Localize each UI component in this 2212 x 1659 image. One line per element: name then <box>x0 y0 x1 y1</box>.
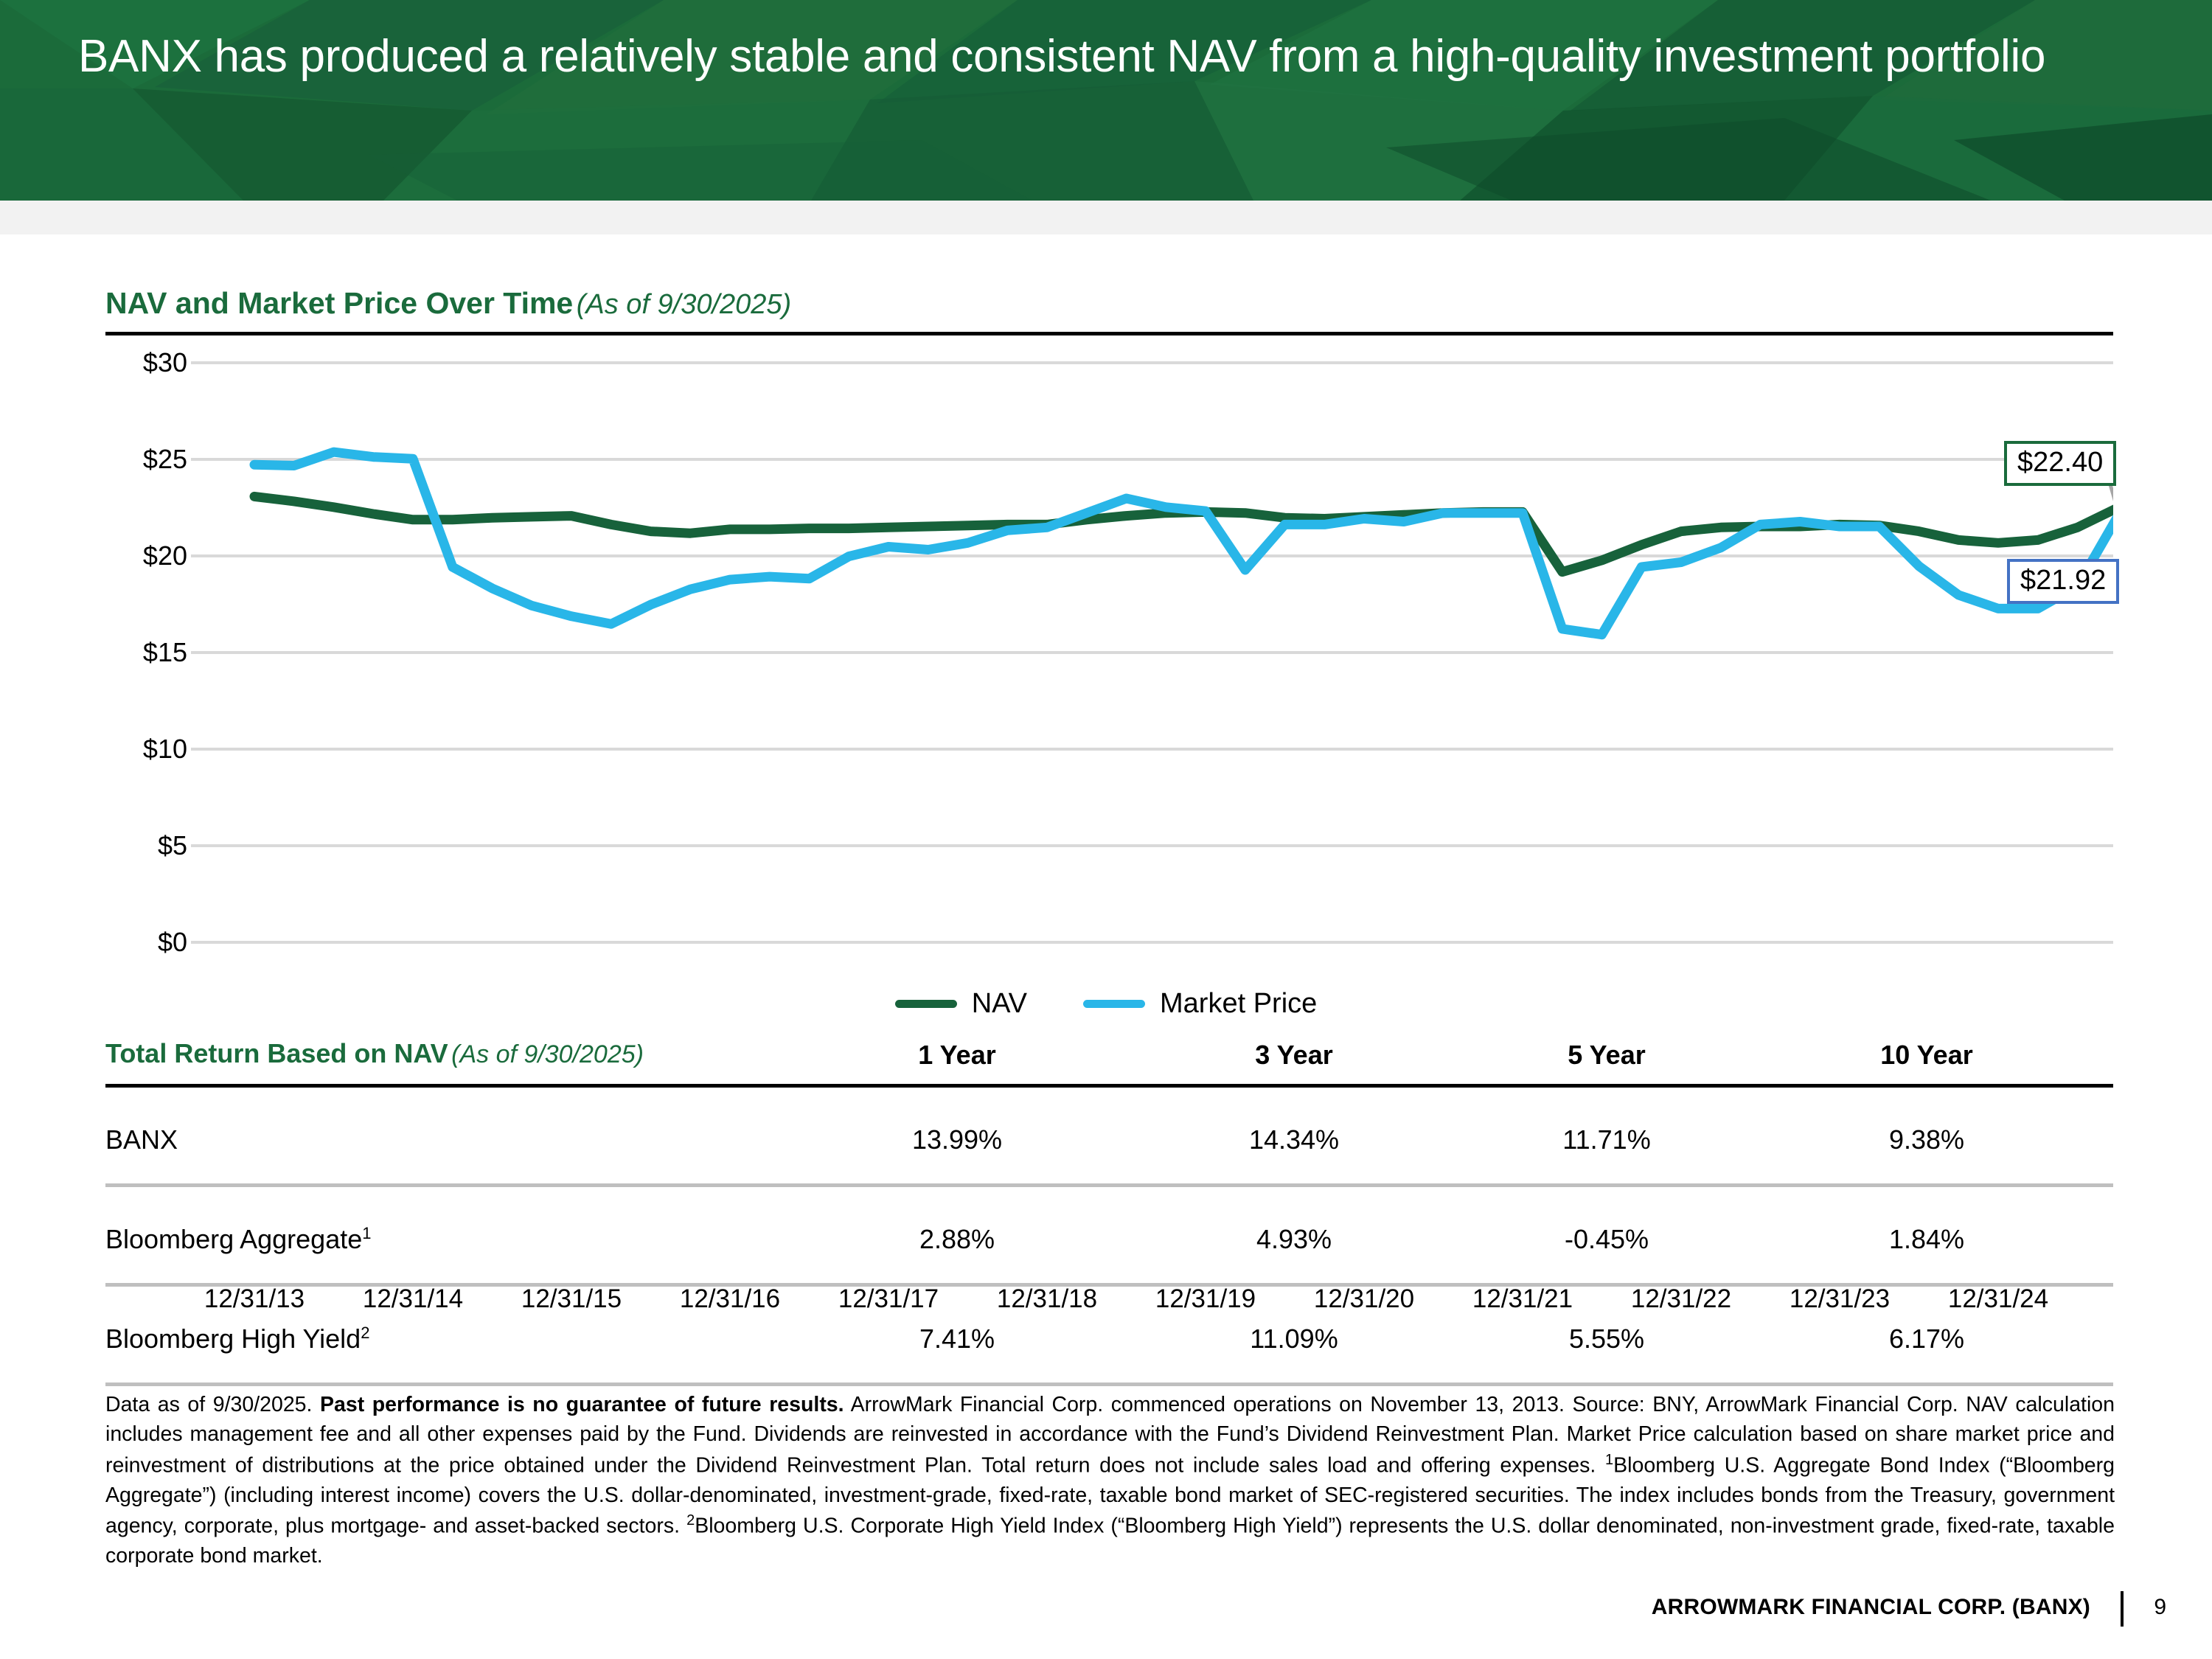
chart-title-asof: (As of 9/30/2025) <box>577 289 792 320</box>
footnote-mark-1: 1 <box>1605 1452 1613 1468</box>
footer-divider <box>2121 1591 2124 1627</box>
page-number: 9 <box>2154 1595 2166 1620</box>
nav-legend-label: NAV <box>972 988 1027 1020</box>
chart-title-rule <box>105 332 2113 335</box>
column-header-3-year: 3 Year <box>1255 1040 1332 1071</box>
table-row: BANX 13.99% 14.34% 11.71% 9.38% <box>105 1088 2113 1183</box>
header-under-band <box>0 201 2212 234</box>
legend-item-nav: NAV <box>895 988 1027 1020</box>
row-footnote-mark: 2 <box>361 1324 369 1342</box>
bloomberg-high-yield-5-year: 5.55% <box>1569 1324 1644 1354</box>
footnote-bold: Past performance is no guarantee of futu… <box>320 1393 844 1416</box>
nav-legend-swatch <box>895 1000 957 1008</box>
row-label-bloomberg-high-yield: Bloomberg High Yield2 <box>105 1324 369 1354</box>
footer-brand: ARROWMARK FINANCIAL CORP. (BANX) <box>1652 1595 2090 1620</box>
y-tick-15: $15 <box>40 637 187 668</box>
chart-title: NAV and Market Price Over Time (As of 9/… <box>105 286 2111 321</box>
bloomberg-aggregate-1-year: 2.88% <box>919 1224 995 1255</box>
bloomberg-high-yield-10-year: 6.17% <box>1889 1324 1964 1354</box>
bloomberg-aggregate-5-year: -0.45% <box>1565 1224 1649 1255</box>
slide-title: BANX has produced a relatively stable an… <box>78 31 2069 82</box>
bloomberg-aggregate-3-year: 4.93% <box>1256 1224 1332 1255</box>
table-header-row: Total Return Based on NAV (As of 9/30/20… <box>105 1038 2113 1084</box>
y-tick-5: $5 <box>40 830 187 861</box>
y-tick-20: $20 <box>40 540 187 571</box>
slide-header-band: BANX has produced a relatively stable an… <box>0 0 2212 201</box>
nav-market-price-chart: $30 $25 $20 $15 $10 $5 $0 12/31/13 12/31… <box>105 347 2113 929</box>
banx-5-year: 11.71% <box>1562 1124 1650 1155</box>
column-header-5-year: 5 Year <box>1568 1040 1645 1071</box>
row-label-text: Bloomberg Aggregate <box>105 1224 362 1254</box>
market-price-legend-label: Market Price <box>1160 988 1317 1020</box>
row-label-bloomberg-aggregate: Bloomberg Aggregate1 <box>105 1224 372 1255</box>
banx-3-year: 14.34% <box>1249 1124 1339 1155</box>
disclosure-footnote: Data as of 9/30/2025. Past performance i… <box>105 1390 2115 1571</box>
market-price-line <box>254 452 2113 635</box>
y-tick-30: $30 <box>40 347 187 378</box>
chart-plot-area <box>191 347 2113 929</box>
row-footnote-mark: 1 <box>362 1224 371 1242</box>
market-price-legend-swatch <box>1083 1000 1145 1008</box>
bloomberg-high-yield-3-year: 11.09% <box>1250 1324 1338 1354</box>
footnote-mark-2: 2 <box>686 1512 695 1528</box>
column-header-1-year: 1 Year <box>918 1040 995 1071</box>
table-row: Bloomberg High Yield2 7.41% 11.09% 5.55%… <box>105 1287 2113 1382</box>
banx-10-year: 9.38% <box>1889 1124 1964 1155</box>
header-polygon-texture <box>0 0 2212 201</box>
chart-legend: NAV Market Price <box>0 988 2212 1020</box>
table-title-asof: (As of 9/30/2025) <box>451 1040 644 1068</box>
column-header-10-year: 10 Year <box>1880 1040 1972 1071</box>
row-label-banx: BANX <box>105 1124 178 1155</box>
footnote-part1: Data as of 9/30/2025. <box>105 1393 320 1416</box>
legend-item-market-price: Market Price <box>1083 988 1317 1020</box>
table-title-main: Total Return Based on NAV <box>105 1038 448 1068</box>
table-title: Total Return Based on NAV (As of 9/30/20… <box>105 1038 644 1069</box>
chart-title-main: NAV and Market Price Over Time <box>105 286 573 320</box>
bloomberg-high-yield-1-year: 7.41% <box>919 1324 995 1354</box>
table-bottom-rule <box>105 1382 2113 1386</box>
nav-value-callout: $22.40 <box>2004 441 2116 486</box>
row-label-text: Bloomberg High Yield <box>105 1324 361 1354</box>
y-tick-0: $0 <box>40 927 187 958</box>
chart-series-svg <box>191 347 2113 944</box>
y-tick-25: $25 <box>40 444 187 475</box>
total-return-table: Total Return Based on NAV (As of 9/30/20… <box>105 1038 2113 1386</box>
table-row: Bloomberg Aggregate1 2.88% 4.93% -0.45% … <box>105 1187 2113 1283</box>
market-price-value-callout: $21.92 <box>2007 559 2119 604</box>
y-tick-10: $10 <box>40 734 187 765</box>
bloomberg-aggregate-10-year: 1.84% <box>1889 1224 1964 1255</box>
banx-1-year: 13.99% <box>912 1124 1002 1155</box>
